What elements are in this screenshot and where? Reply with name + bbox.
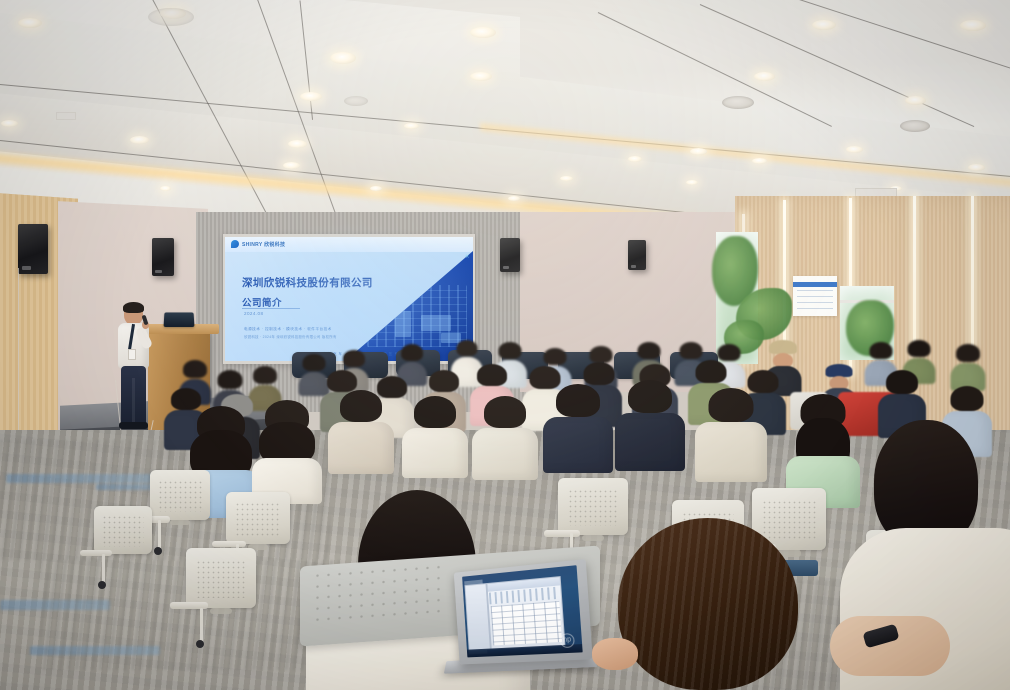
wall-speaker-stage-left xyxy=(152,238,174,276)
hand-on-laptop xyxy=(592,638,638,670)
podium-laptop[interactable] xyxy=(164,312,195,327)
ceiling-speaker-icon xyxy=(722,96,754,109)
audience-person xyxy=(548,386,608,478)
ceiling-downlight xyxy=(628,156,642,162)
audience-person xyxy=(700,390,762,486)
ceiling-downlight xyxy=(330,52,356,64)
wall-speaker-left xyxy=(18,224,48,274)
ceiling-reveal-line xyxy=(790,0,1010,77)
training-chair[interactable] xyxy=(186,548,256,644)
ceiling-downlight xyxy=(754,72,775,81)
ceiling-downlight xyxy=(470,27,496,38)
ceiling-speaker-icon xyxy=(148,8,194,26)
ceiling-downlight xyxy=(160,186,171,191)
ceiling-downlight xyxy=(508,196,520,201)
wall-speaker-right xyxy=(628,240,646,270)
ceiling-downlight xyxy=(905,96,926,105)
chair-tablet-perforation xyxy=(312,561,442,622)
wall-poster xyxy=(793,276,837,316)
ceiling-downlight xyxy=(404,123,419,129)
ceiling-downlight xyxy=(752,158,767,164)
audience-person xyxy=(952,346,984,388)
ceiling-downlight xyxy=(686,180,698,185)
slide-corner-mark: « xyxy=(465,253,469,260)
ceiling-downlight xyxy=(1,120,18,127)
training-chair[interactable] xyxy=(94,506,152,584)
poster-body-text xyxy=(797,290,834,310)
presenter xyxy=(113,303,153,431)
product-chip-graphic xyxy=(395,311,411,337)
spreadsheet-grid[interactable] xyxy=(491,601,562,646)
ceiling-downlight xyxy=(18,18,42,28)
presentation-slide: SHINRY 欣锐科技 « 深圳欣锐科技股份有限公司 公司简介 2024.08 … xyxy=(225,237,473,361)
wall-led-strip xyxy=(971,196,974,346)
audience-person xyxy=(620,382,680,476)
ceiling-vent xyxy=(56,112,76,120)
ceiling-downlight xyxy=(960,20,986,31)
slide-divider xyxy=(242,308,300,309)
ceiling-downlight xyxy=(300,92,322,101)
ceiling-downlight xyxy=(560,176,573,181)
ceiling-speaker-icon xyxy=(344,96,368,106)
ceiling-downlight xyxy=(846,146,863,153)
projection-screen[interactable]: SHINRY 欣锐科技 « 深圳欣锐科技股份有限公司 公司简介 2024.08 … xyxy=(223,234,475,364)
ceiling-downlight xyxy=(812,20,836,30)
ceiling-downlight xyxy=(370,186,382,191)
ceiling-downlight xyxy=(968,164,985,171)
wall-speaker-stage-right xyxy=(500,238,520,272)
ceiling-downlight xyxy=(690,148,707,155)
bob-hair xyxy=(618,518,798,690)
laptop-lid: hp xyxy=(454,559,593,664)
training-chair[interactable] xyxy=(150,470,210,550)
presenter-shoes xyxy=(119,422,148,429)
audience-person-foreground-cream-top xyxy=(840,420,1010,690)
presenter-badge xyxy=(128,349,136,360)
ceiling-downlight xyxy=(470,72,492,81)
conference-room-photo: SHINRY 欣锐科技 « 深圳欣锐科技股份有限公司 公司简介 2024.08 … xyxy=(0,0,1010,690)
ceiling-downlight xyxy=(288,140,307,148)
slide-title: 深圳欣锐科技股份有限公司 xyxy=(242,275,373,290)
presenter-hair xyxy=(123,302,144,313)
slide-date: 2024.08 xyxy=(244,311,263,316)
ceiling-downlight xyxy=(130,136,149,144)
poster-header-band xyxy=(793,282,837,287)
foreground-laptop[interactable]: hp xyxy=(446,566,596,674)
logo-text: SHINRY 欣锐科技 xyxy=(242,241,285,248)
slide-subtitle: 公司简介 xyxy=(242,295,282,309)
slide-footer-line-2: 欣锐科技 · 2024年 深圳欣锐科技股份有限公司 版权所有 xyxy=(244,334,337,339)
ceiling-speaker-icon xyxy=(900,120,930,132)
logo-mark-icon xyxy=(231,240,239,248)
ceiling-downlight xyxy=(283,162,300,169)
slide-footer-line-1: 电源技术 · 控制技术 · 模块技术 · 软件平台技术 xyxy=(244,327,332,332)
presenter-trousers xyxy=(121,366,146,424)
spreadsheet-window[interactable] xyxy=(486,576,565,649)
product-chip-graphic xyxy=(421,315,451,331)
wall-led-strip xyxy=(913,196,916,356)
audience-person-bob-hair xyxy=(618,518,818,690)
company-logo: SHINRY 欣锐科技 xyxy=(231,240,285,248)
